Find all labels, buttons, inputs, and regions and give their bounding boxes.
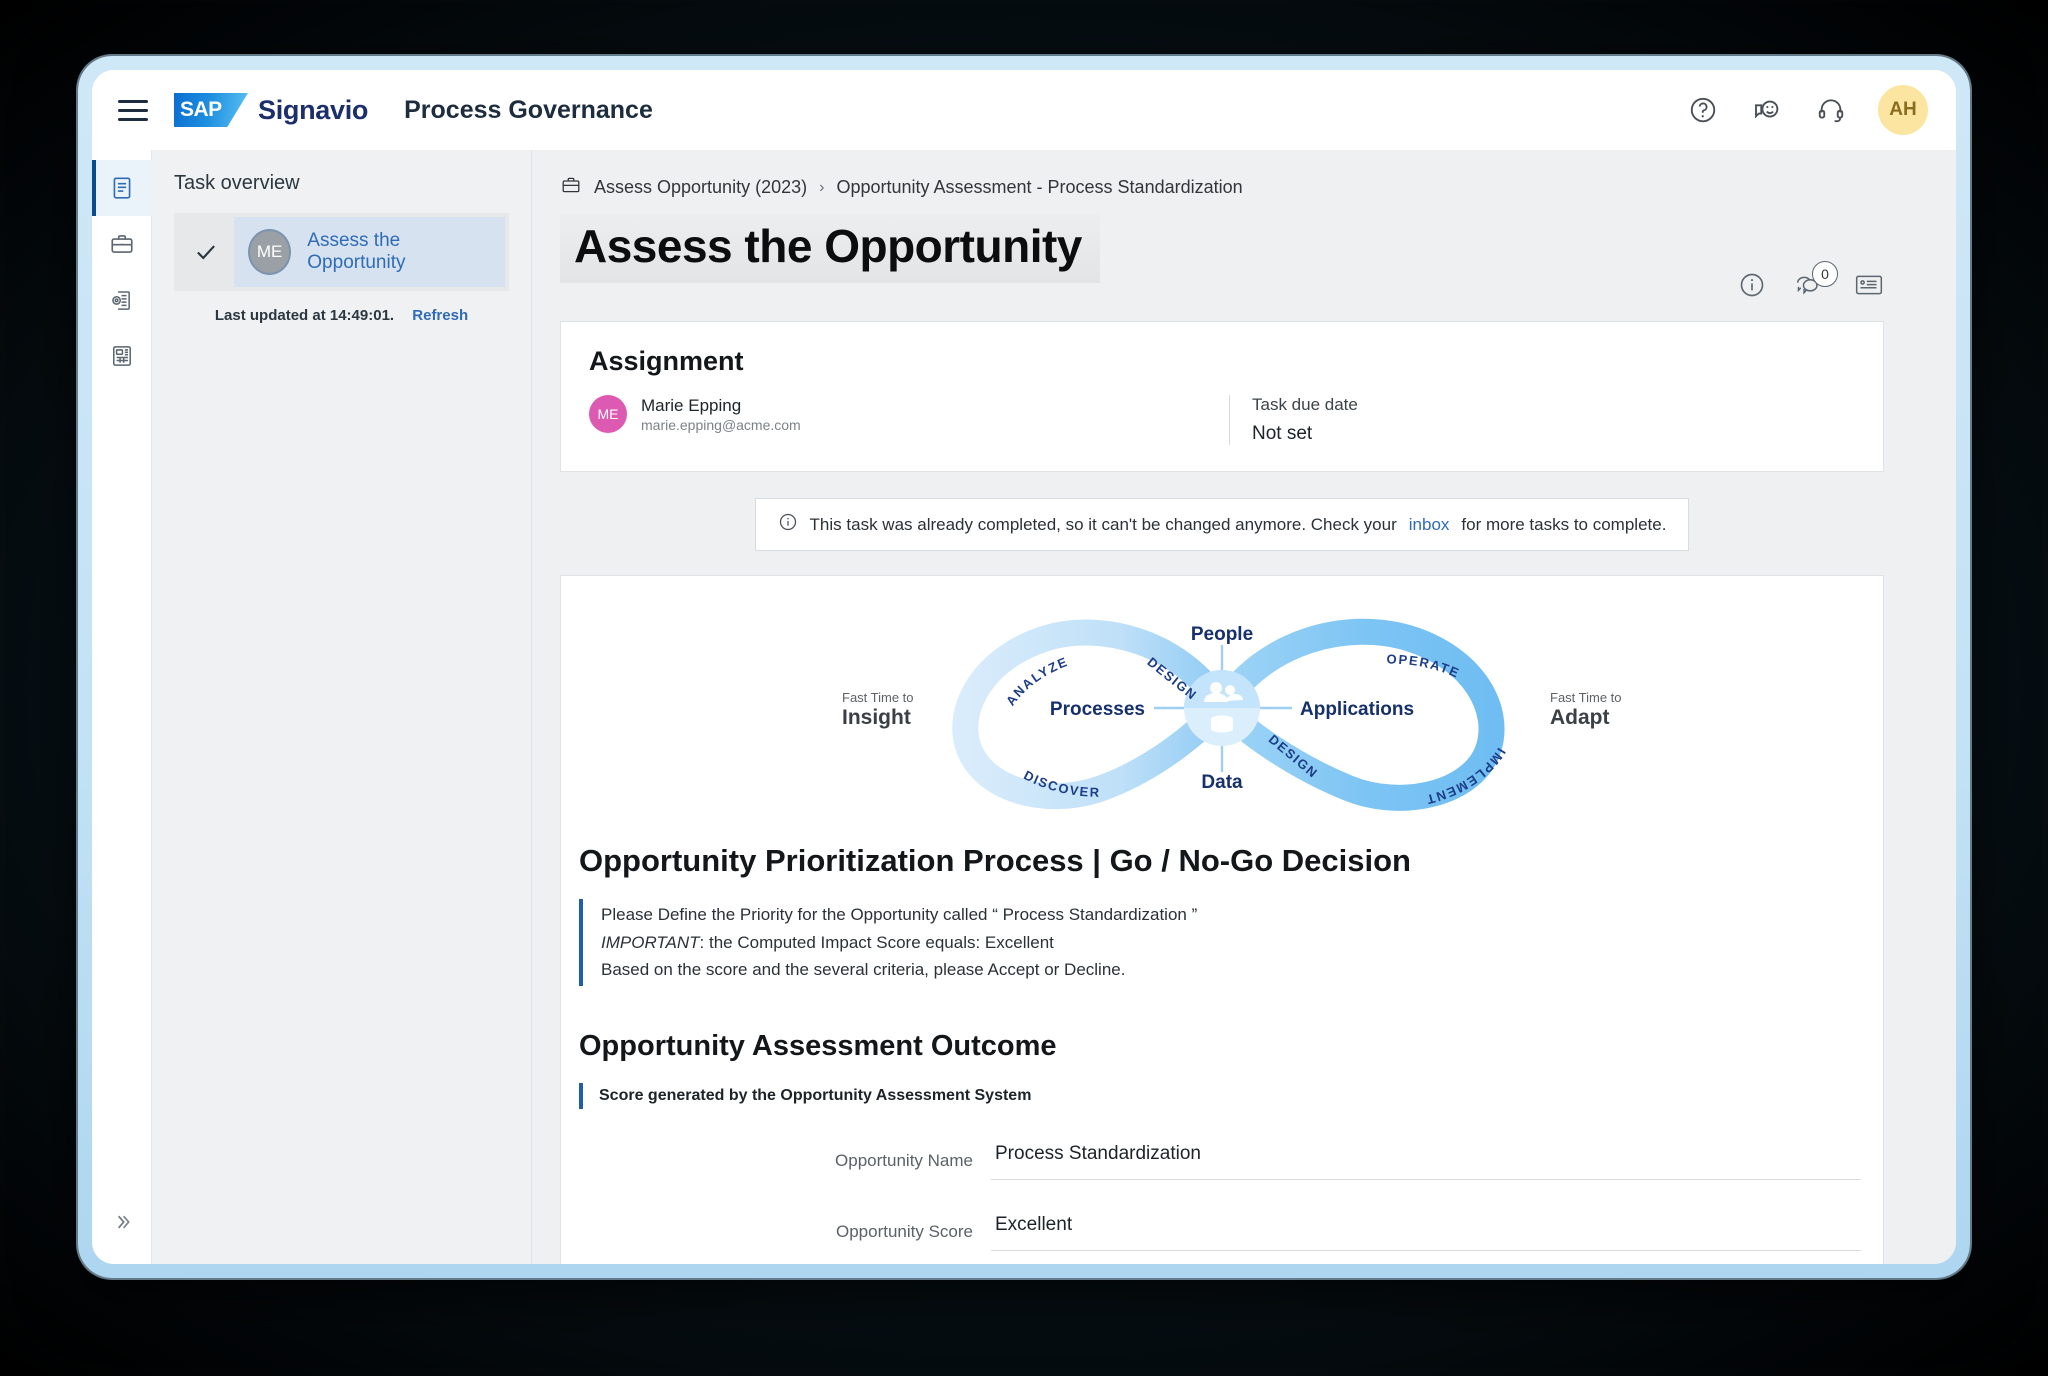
due-date-label: Task due date <box>1252 395 1358 415</box>
sap-logo-text: SAP <box>180 98 222 122</box>
form-record-icon[interactable] <box>1854 272 1884 298</box>
rail-item-tasks[interactable] <box>92 160 152 216</box>
description-line-1: Please Define the Priority for the Oppor… <box>601 901 1883 929</box>
task-panel-meta: Last updated at 14:49:01. Refresh <box>174 307 509 324</box>
description-line-2: IMPORTANT: the Computed Impact Score equ… <box>601 929 1883 957</box>
sap-logo-icon: SAP <box>174 93 248 127</box>
infinity-diagram: ANALYZE DESIGN DISCOVER DESIGN <box>561 576 1883 825</box>
feedback-smiley-icon[interactable] <box>1750 93 1784 127</box>
assignee-block: ME Marie Epping marie.epping@acme.com <box>589 395 1229 433</box>
task-avatar: ME <box>248 229 291 275</box>
arc-label-implement: IMPLEMENT <box>1424 745 1509 807</box>
field-value-opportunity-score: Excellent <box>991 1214 1861 1251</box>
main-content: Assess Opportunity (2023) › Opportunity … <box>532 150 1956 1264</box>
breadcrumb-separator: › <box>819 179 824 197</box>
diagram-label-data: Data <box>1201 772 1243 793</box>
field-value-opportunity-name: Process Standardization <box>991 1143 1861 1180</box>
notice-text-before: This task was already completed, so it c… <box>810 515 1397 535</box>
field-row-opportunity-name: Opportunity Name Process Standardization <box>561 1143 1883 1180</box>
hamburger-menu-icon[interactable] <box>118 96 152 124</box>
device-screen: SAP Signavio Process Governance <box>92 70 1956 1264</box>
due-date-block: Task due date Not set <box>1229 395 1358 445</box>
description-line-2-rest: : the Computed Impact Score equals: Exce… <box>700 933 1054 952</box>
form-description: Please Define the Priority for the Oppor… <box>579 899 1883 986</box>
diagram-label-people: People <box>1191 624 1253 645</box>
task-form-card: ANALYZE DESIGN DISCOVER DESIGN <box>560 575 1884 1264</box>
app-body: Task overview ME Assess the Opportunity … <box>92 150 1956 1264</box>
rail-item-reports[interactable] <box>92 328 152 384</box>
outcome-note: Score generated by the Opportunity Asses… <box>579 1083 1883 1109</box>
comments-icon[interactable]: 0 <box>1794 271 1826 299</box>
description-important: IMPORTANT <box>601 933 700 952</box>
caption-right-big: Adapt <box>1550 706 1610 729</box>
page-actions: 0 <box>1738 213 1884 299</box>
database-icon <box>1211 715 1233 732</box>
assignee-name: Marie Epping <box>641 395 801 417</box>
header-actions: AH <box>1686 85 1928 135</box>
task-item-body[interactable]: ME Assess the Opportunity <box>234 217 505 287</box>
app-header: SAP Signavio Process Governance <box>92 70 1956 150</box>
title-row: Assess the Opportunity <box>560 213 1884 299</box>
task-item-label: Assess the Opportunity <box>307 230 491 274</box>
breadcrumb: Assess Opportunity (2023) › Opportunity … <box>560 174 1884 201</box>
field-label-opportunity-name: Opportunity Name <box>561 1151 991 1171</box>
assignee-avatar: ME <box>589 395 627 433</box>
check-icon <box>178 217 234 287</box>
description-line-3: Based on the score and the several crite… <box>601 956 1883 984</box>
outcome-heading: Opportunity Assessment Outcome <box>579 1030 1883 1063</box>
last-updated-text: Last updated at 14:49:01. <box>215 307 394 324</box>
rail-expand-icon[interactable] <box>92 1202 152 1242</box>
task-overview-panel: Task overview ME Assess the Opportunity … <box>152 150 532 1264</box>
field-row-opportunity-score: Opportunity Score Excellent <box>561 1214 1883 1251</box>
field-label-opportunity-score: Opportunity Score <box>561 1222 991 1242</box>
headset-icon[interactable] <box>1814 93 1848 127</box>
brand-logo[interactable]: SAP Signavio <box>174 93 368 127</box>
device-bezel: SAP Signavio Process Governance <box>78 56 1970 1278</box>
task-overview-title: Task overview <box>174 172 509 195</box>
refresh-button[interactable]: Refresh <box>412 307 468 324</box>
assignee-email: marie.epping@acme.com <box>641 417 801 433</box>
help-icon[interactable] <box>1686 93 1720 127</box>
caption-right-small: Fast Time to <box>1550 690 1622 705</box>
assignment-heading: Assignment <box>589 346 1855 377</box>
caption-left-small: Fast Time to <box>842 690 914 705</box>
notice-info-icon <box>778 512 798 537</box>
diagram-label-applications: Applications <box>1300 699 1414 720</box>
comments-count-badge: 0 <box>1812 261 1838 287</box>
caption-left-big: Insight <box>842 706 911 729</box>
breadcrumb-item-1[interactable]: Assess Opportunity (2023) <box>594 177 807 198</box>
rail-item-processes[interactable] <box>92 272 152 328</box>
assignment-card: Assignment ME Marie Epping marie.epping@… <box>560 321 1884 472</box>
breadcrumb-briefcase-icon <box>560 174 582 201</box>
form-heading: Opportunity Prioritization Process | Go … <box>579 843 1883 879</box>
notice-wrap: This task was already completed, so it c… <box>560 498 1884 551</box>
brand-name-text: Signavio <box>258 95 368 126</box>
app-title: Process Governance <box>404 96 653 125</box>
notice-text-after: for more tasks to complete. <box>1461 515 1666 535</box>
rail-item-cases[interactable] <box>92 216 152 272</box>
nav-rail <box>92 150 152 1264</box>
breadcrumb-item-2[interactable]: Opportunity Assessment - Process Standar… <box>836 177 1242 198</box>
due-date-value: Not set <box>1252 423 1358 445</box>
info-icon[interactable] <box>1738 271 1766 299</box>
diagram-label-processes: Processes <box>1050 699 1145 720</box>
user-avatar[interactable]: AH <box>1878 85 1928 135</box>
inbox-link[interactable]: inbox <box>1409 515 1450 535</box>
page-title: Assess the Opportunity <box>560 213 1100 283</box>
task-list-item[interactable]: ME Assess the Opportunity <box>174 213 509 291</box>
completed-task-notice: This task was already completed, so it c… <box>755 498 1690 551</box>
infinity-diagram-svg: ANALYZE DESIGN DISCOVER DESIGN <box>702 600 1742 815</box>
